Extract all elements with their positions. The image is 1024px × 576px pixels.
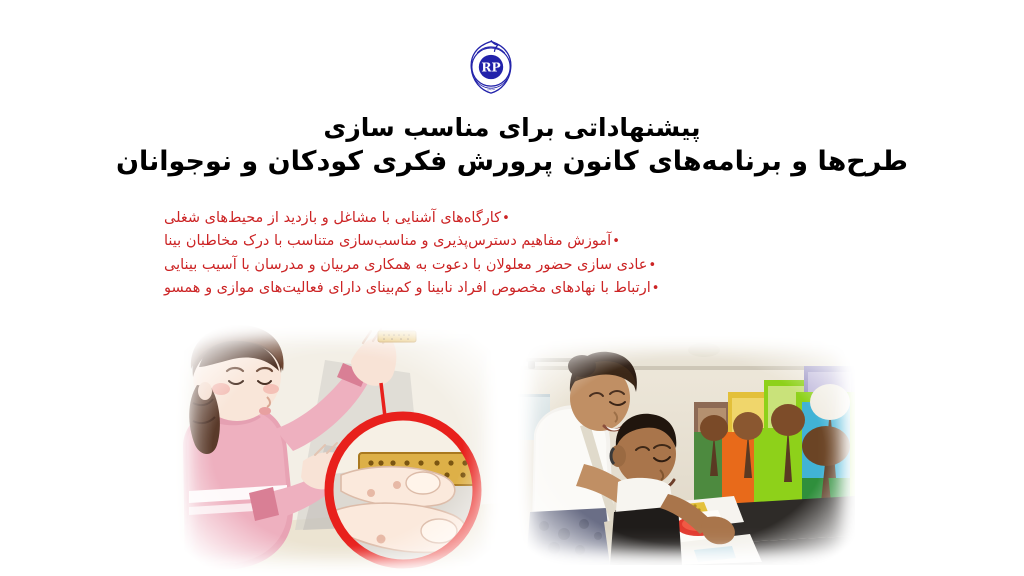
list-item-label: عادی سازی حضور معلولان با دعوت به همکاری… — [164, 254, 647, 277]
presentation-slide: RP سازمان پیشنهاداتی برای مناسب سازی طرح… — [0, 0, 1024, 576]
list-item: • آموزش مفاهیم دسترس‌پذیری و مناسب‌سازی … — [164, 230, 854, 253]
svg-text:سازمان: سازمان — [487, 88, 495, 91]
list-item: • عادی سازی حضور معلولان با دعوت به همکا… — [164, 254, 854, 277]
list-item: • ارتباط با نهادهای مخصوص افراد نابینا و… — [164, 277, 854, 300]
list-item: • کارگاه‌های آشنایی با مشاغل و بازدید از… — [164, 207, 854, 230]
suggestions-list: • کارگاه‌های آشنایی با مشاغل و بازدید از… — [164, 207, 854, 301]
bullet-point-icon: • — [502, 212, 510, 225]
list-item-label: آموزش مفاهیم دسترس‌پذیری و مناسب‌سازی مت… — [164, 230, 611, 253]
art-workshop-photo — [518, 336, 855, 565]
title-line-secondary: طرح‌ها و برنامه‌های کانون پرورش فکری کود… — [0, 145, 1024, 180]
bullet-point-icon: • — [652, 282, 660, 295]
list-item-label: ارتباط با نهادهای مخصوص افراد نابینا و ک… — [164, 277, 651, 300]
bullet-point-icon: • — [612, 235, 620, 248]
slide-title: پیشنهاداتی برای مناسب سازی طرح‌ها و برنا… — [0, 112, 1024, 180]
logo-monogram: RP — [481, 61, 500, 75]
bullet-point-icon: • — [648, 259, 656, 272]
organization-logo-icon: RP سازمان — [462, 38, 520, 96]
title-line-primary: پیشنهاداتی برای مناسب سازی — [0, 112, 1024, 144]
braille-sign-reading-illustration — [175, 325, 500, 575]
list-item-label: کارگاه‌های آشنایی با مشاغل و بازدید از م… — [164, 207, 501, 230]
